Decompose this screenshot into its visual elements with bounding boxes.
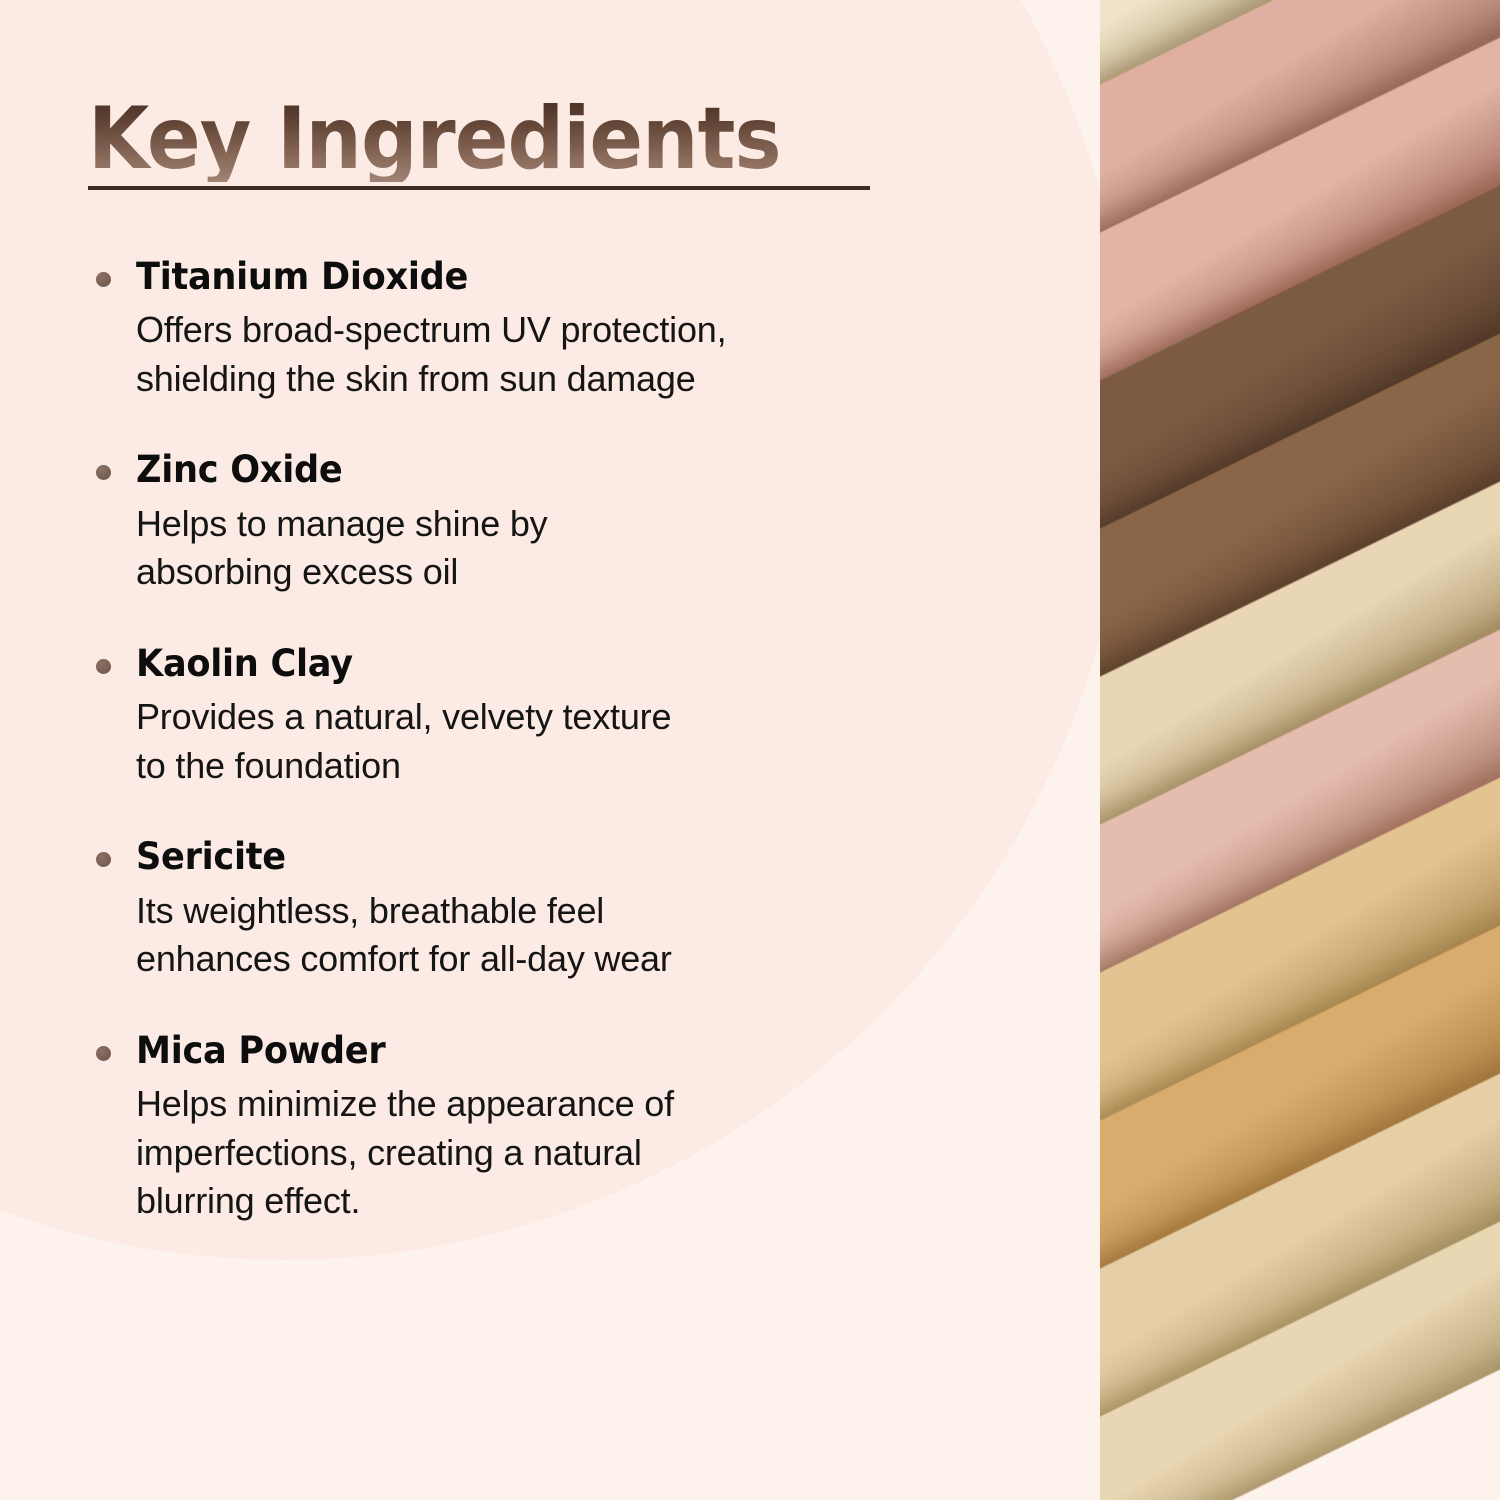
- ingredient-description: Provides a natural, velvety texture to t…: [136, 693, 968, 790]
- bullet-dot-icon: [96, 659, 111, 674]
- product-infographic: Key Ingredients Titanium DioxideOffers b…: [0, 0, 1500, 1500]
- ingredient-name: Mica Powder: [136, 1028, 968, 1074]
- ingredient-description: Helps to manage shine by absorbing exces…: [136, 500, 968, 597]
- bullet-dot-icon: [96, 1046, 111, 1061]
- ingredient-item: Mica PowderHelps minimize the appearance…: [88, 1028, 968, 1226]
- content-column: Key Ingredients Titanium DioxideOffers b…: [88, 0, 968, 1226]
- ingredient-item: Kaolin ClayProvides a natural, velvety t…: [88, 641, 968, 790]
- ingredient-name-text: Zinc Oxide: [136, 447, 342, 493]
- ingredient-description: Helps minimize the appearance of imperfe…: [136, 1080, 968, 1226]
- powder-swatch-image: [1100, 0, 1500, 1500]
- bullet-dot-icon: [96, 272, 111, 287]
- bullet-dot-icon: [96, 465, 111, 480]
- ingredient-name: Zinc Oxide: [136, 447, 968, 493]
- ingredient-name: Kaolin Clay: [136, 641, 968, 687]
- ingredient-name-text: Mica Powder: [136, 1028, 385, 1074]
- ingredient-item: Zinc OxideHelps to manage shine by absor…: [88, 447, 968, 596]
- bullet-dot-icon: [96, 852, 111, 867]
- page-title: Key Ingredients: [88, 96, 781, 182]
- title-block: Key Ingredients: [88, 0, 968, 190]
- ingredient-name: Sericite: [136, 834, 968, 880]
- powder-bands: [1100, 0, 1500, 1500]
- ingredient-item: Titanium DioxideOffers broad-spectrum UV…: [88, 254, 968, 403]
- ingredient-name-text: Sericite: [136, 834, 286, 880]
- ingredient-name: Titanium Dioxide: [136, 254, 968, 300]
- ingredient-description: Its weightless, breathable feel enhances…: [136, 887, 968, 984]
- ingredient-list: Titanium DioxideOffers broad-spectrum UV…: [88, 254, 968, 1226]
- ingredient-name-text: Titanium Dioxide: [136, 254, 468, 300]
- ingredient-item: SericiteIts weightless, breathable feel …: [88, 834, 968, 983]
- ingredient-name-text: Kaolin Clay: [136, 641, 353, 687]
- ingredient-description: Offers broad-spectrum UV protection, shi…: [136, 306, 968, 403]
